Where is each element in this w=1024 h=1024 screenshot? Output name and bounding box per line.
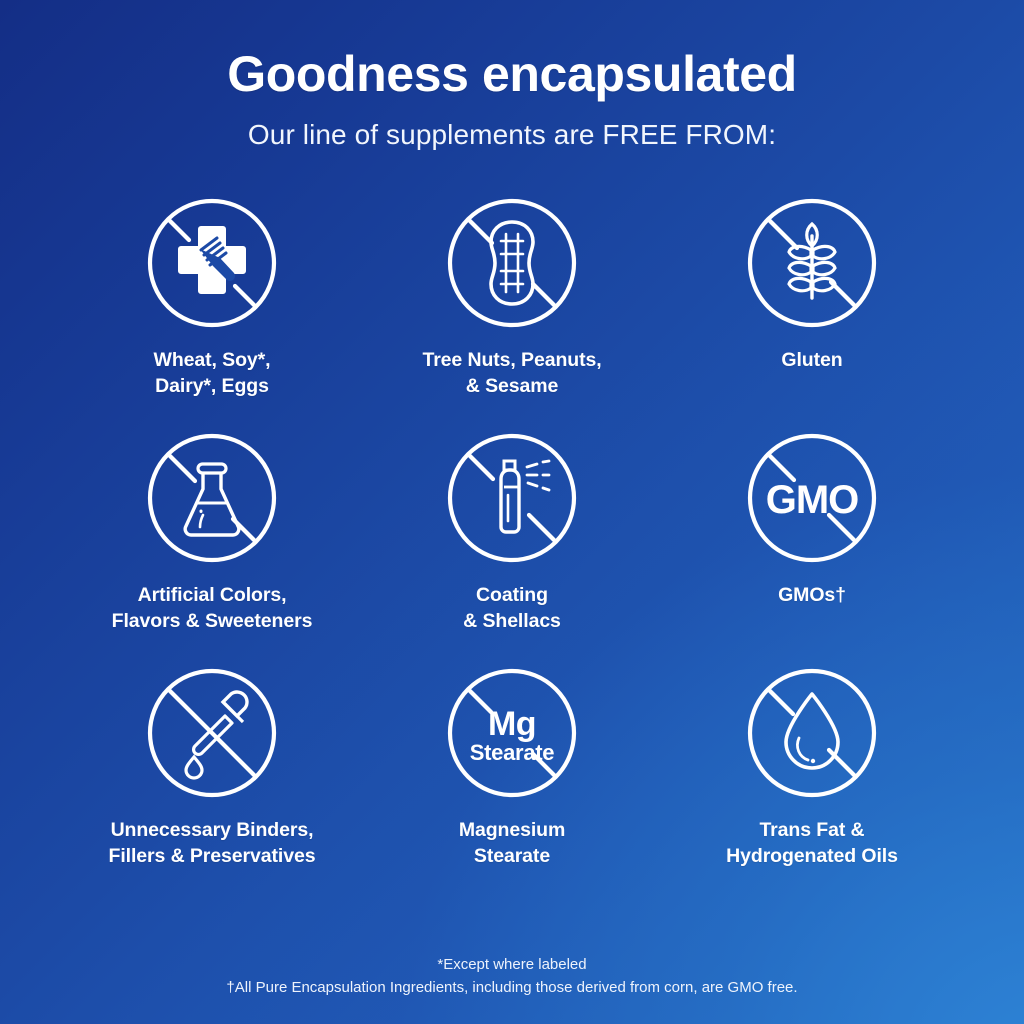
free-from-item-label: Unnecessary Binders, Fillers & Preservat…	[109, 817, 316, 869]
no-wheat-soy-dairy-eggs-icon	[145, 196, 279, 330]
footnotes: *Except where labeled †All Pure Encapsul…	[0, 953, 1024, 1000]
no-coating-shellacs-icon	[445, 431, 579, 565]
free-from-item-artificial-colors: Artificial Colors, Flavors & Sweeteners	[62, 431, 362, 666]
free-from-item-tree-nuts-peanuts-sesame: Tree Nuts, Peanuts, & Sesame	[362, 196, 662, 431]
no-trans-fat-hydrogenated-oils-icon	[745, 666, 879, 800]
free-from-grid: Wheat, Soy*, Dairy*, Eggs	[62, 196, 962, 901]
free-from-item-label: Coating & Shellacs	[463, 582, 561, 634]
footnote-dagger: †All Pure Encapsulation Ingredients, inc…	[0, 976, 1024, 999]
gmo-icon-text: GMO	[766, 478, 859, 522]
free-from-item-wheat-soy-dairy-eggs: Wheat, Soy*, Dairy*, Eggs	[62, 196, 362, 431]
free-from-item-gluten: Gluten	[662, 196, 962, 431]
free-from-item-label: Trans Fat & Hydrogenated Oils	[726, 817, 898, 869]
free-from-item-label: Artificial Colors, Flavors & Sweeteners	[112, 582, 313, 634]
free-from-item-label: Gluten	[781, 347, 842, 373]
free-from-item-label: Wheat, Soy*, Dairy*, Eggs	[154, 347, 271, 399]
no-gmo-icon: GMO	[745, 431, 879, 565]
no-gluten-icon	[745, 196, 879, 330]
page-title: Goodness encapsulated	[0, 47, 1024, 101]
free-from-item-trans-fat-hydrogenated-oils: Trans Fat & Hydrogenated Oils	[662, 666, 962, 901]
free-from-item-coating-shellacs: Coating & Shellacs	[362, 431, 662, 666]
no-tree-nuts-peanuts-sesame-icon	[445, 196, 579, 330]
free-from-item-label: Magnesium Stearate	[459, 817, 565, 869]
no-binders-fillers-preservatives-icon	[145, 666, 279, 800]
footnote-asterisk: *Except where labeled	[0, 953, 1024, 976]
free-from-item-magnesium-stearate: Mg Stearate Magnesium Stearate	[362, 666, 662, 901]
page-subtitle: Our line of supplements are FREE FROM:	[0, 101, 1024, 151]
stearate-icon-text: Stearate	[470, 740, 554, 765]
free-from-item-binders-fillers-preservatives: Unnecessary Binders, Fillers & Preservat…	[62, 666, 362, 901]
free-from-item-gmos: GMO GMOs†	[662, 431, 962, 666]
mg-icon-text: Mg	[488, 705, 536, 743]
free-from-item-label: GMOs†	[778, 582, 846, 608]
free-from-item-label: Tree Nuts, Peanuts, & Sesame	[422, 347, 601, 399]
no-artificial-colors-icon	[145, 431, 279, 565]
poster-canvas: Goodness encapsulated Our line of supple…	[0, 0, 1024, 1024]
no-magnesium-stearate-icon: Mg Stearate	[445, 666, 579, 800]
poster-header: Goodness encapsulated Our line of supple…	[0, 0, 1024, 151]
